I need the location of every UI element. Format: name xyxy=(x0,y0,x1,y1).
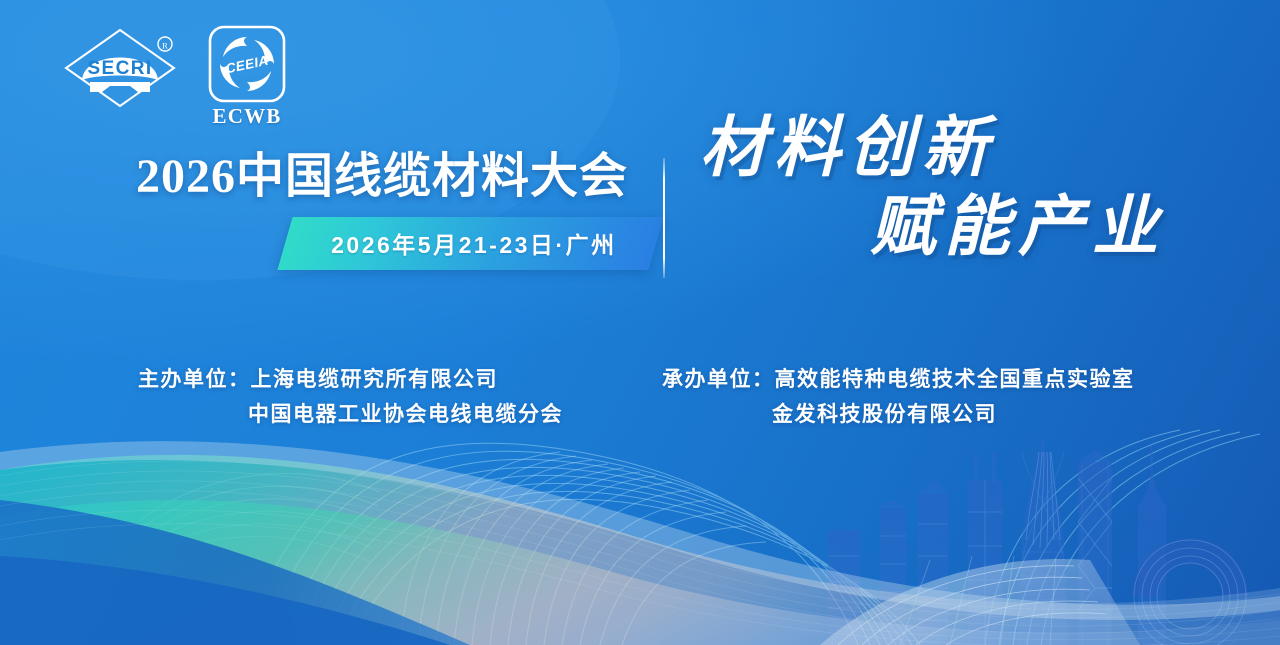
co-host-organizer-line-1: 承办单位：高效能特种电缆技术全国重点实验室 xyxy=(662,362,1135,397)
ecwb-logo: CEEIA ECWB xyxy=(204,24,290,128)
secri-logo-mark: SECRI R xyxy=(60,24,180,112)
date-badge-wrap: 2026年5月21-23日·广州 xyxy=(136,217,656,270)
svg-text:SECRI: SECRI xyxy=(87,58,152,79)
slogan-line-2: 赋能产业 xyxy=(700,191,1170,262)
ceeia-swirl-icon: CEEIA xyxy=(207,24,287,104)
ecwb-caption: ECWB xyxy=(213,106,282,127)
svg-text:CEEIA: CEEIA xyxy=(224,53,269,77)
host-organizer-line-1: 主办单位：上海电缆研究所有限公司 xyxy=(138,362,563,397)
logo-row: SECRI R CEEIA ECWB xyxy=(60,24,290,128)
conference-banner: SECRI R CEEIA ECWB 2026中国线 xyxy=(0,0,1280,645)
host-organizer-block: 主办单位：上海电缆研究所有限公司 中国电器工业协会电线电缆分会 xyxy=(138,362,563,431)
secri-logo: SECRI R xyxy=(60,24,180,112)
date-badge-text: 2026年5月21-23日·广州 xyxy=(331,226,616,260)
slogan-line-1: 材料创新 xyxy=(700,112,1170,183)
title-block: 2026中国线缆材料大会 2026年5月21-23日·广州 xyxy=(136,152,656,270)
svg-text:R: R xyxy=(162,41,168,51)
page-title: 2026中国线缆材料大会 xyxy=(136,152,656,203)
co-host-organizer-line-2: 金发科技股份有限公司 xyxy=(662,397,1135,432)
slogan-block: 材料创新 赋能产业 xyxy=(700,112,1170,263)
vertical-divider xyxy=(663,158,665,278)
date-badge: 2026年5月21-23日·广州 xyxy=(277,217,664,270)
co-host-organizer-block: 承办单位：高效能特种电缆技术全国重点实验室 金发科技股份有限公司 xyxy=(662,362,1135,431)
host-organizer-line-2: 中国电器工业协会电线电缆分会 xyxy=(138,397,563,432)
